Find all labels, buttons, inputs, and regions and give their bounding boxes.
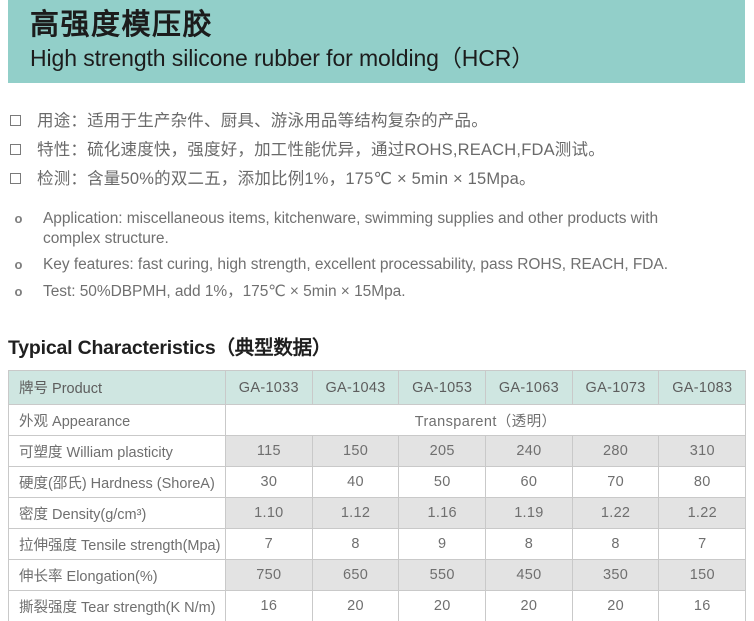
row-label-appearance: 外观 Appearance [9,405,226,436]
cell-value: 16 [226,591,313,621]
column-header-ga-1033: GA-1033 [226,371,313,405]
row-label-tear-strength: 撕裂强度 Tear strength(K N/m) [9,591,226,621]
row-label-hardness: 硬度(邵氏) Hardness (ShoreA) [9,467,226,498]
chinese-bullet-text: 检测：含量50%的双二五，添加比例1%，175℃ × 5min × 15Mpa。 [37,168,536,190]
cell-value: 750 [226,560,313,591]
row-label-elongation: 伸长率 Elongation(%) [9,560,226,591]
row-label-tensile-strength: 拉伸强度 Tensile strength(Mpa) [9,529,226,560]
cell-value: 20 [486,591,573,621]
table-row: 外观 Appearance Transparent（透明） [9,405,746,436]
hollow-square-bullet-icon [10,144,21,155]
english-bullet-text: Test: 50%DBPMH, add 1%，175℃ × 5min × 15M… [43,282,405,302]
banner-title-chinese: 高强度模压胶 [30,7,745,43]
title-banner: 高强度模压胶 High strength silicone rubber for… [8,0,745,83]
row-label-william-plasticity: 可塑度 William plasticity [9,436,226,467]
cell-value: 70 [572,467,659,498]
cell-value: 40 [312,467,399,498]
list-item: o Key features: fast curing, high streng… [8,255,748,275]
cell-value: 280 [572,436,659,467]
circle-bullet-icon: o [12,256,25,274]
cell-value: 50 [399,467,486,498]
english-bullet-text: Key features: fast curing, high strength… [43,255,668,275]
column-header-ga-1073: GA-1073 [572,371,659,405]
cell-value: 1.16 [399,498,486,529]
column-header-ga-1053: GA-1053 [399,371,486,405]
cell-value: 450 [486,560,573,591]
circle-bullet-icon: o [12,210,25,228]
table-row: 可塑度 William plasticity 115 150 205 240 2… [9,436,746,467]
cell-value: 8 [572,529,659,560]
cell-value: 1.22 [572,498,659,529]
table-row: 密度 Density(g/cm³) 1.10 1.12 1.16 1.19 1.… [9,498,746,529]
table-header-row: 牌号 Product GA-1033 GA-1043 GA-1053 GA-10… [9,371,746,405]
cell-value: 240 [486,436,573,467]
row-value-appearance: Transparent（透明） [226,405,746,436]
banner-title-english: High strength silicone rubber for moldin… [30,43,745,74]
cell-value: 1.12 [312,498,399,529]
table-row: 拉伸强度 Tensile strength(Mpa) 7 8 9 8 8 7 [9,529,746,560]
table-row: 伸长率 Elongation(%) 750 650 550 450 350 15… [9,560,746,591]
list-item: o Application: miscellaneous items, kitc… [8,209,748,248]
cell-value: 150 [312,436,399,467]
chinese-bullet-text: 特性：硫化速度快，强度好，加工性能优异，通过ROHS,REACH,FDA测试。 [37,139,605,161]
cell-value: 1.22 [659,498,746,529]
cell-value: 60 [486,467,573,498]
hollow-square-bullet-icon [10,115,21,126]
cell-value: 310 [659,436,746,467]
list-item: 特性：硫化速度快，强度好，加工性能优异，通过ROHS,REACH,FDA测试。 [8,139,748,168]
column-header-ga-1063: GA-1063 [486,371,573,405]
list-item: 检测：含量50%的双二五，添加比例1%，175℃ × 5min × 15Mpa。 [8,168,748,197]
cell-value: 7 [659,529,746,560]
circle-bullet-icon: o [12,283,25,301]
column-header-ga-1083: GA-1083 [659,371,746,405]
english-bullet-text: Application: miscellaneous items, kitche… [43,209,703,248]
table-row: 硬度(邵氏) Hardness (ShoreA) 30 40 50 60 70 … [9,467,746,498]
cell-value: 1.19 [486,498,573,529]
column-header-product: 牌号 Product [9,371,226,405]
cell-value: 80 [659,467,746,498]
cell-value: 20 [399,591,486,621]
cell-value: 650 [312,560,399,591]
table-row: 撕裂强度 Tear strength(K N/m) 16 20 20 20 20… [9,591,746,621]
cell-value: 205 [399,436,486,467]
cell-value: 9 [399,529,486,560]
cell-value: 20 [572,591,659,621]
cell-value: 1.10 [226,498,313,529]
list-item: 用途：适用于生产杂件、厨具、游泳用品等结构复杂的产品。 [8,110,748,139]
chinese-bullet-list: 用途：适用于生产杂件、厨具、游泳用品等结构复杂的产品。 特性：硫化速度快，强度好… [8,110,748,197]
cell-value: 30 [226,467,313,498]
cell-value: 16 [659,591,746,621]
section-heading: Typical Characteristics（典型数据） [8,331,331,360]
typical-characteristics-table: 牌号 Product GA-1033 GA-1043 GA-1053 GA-10… [8,370,746,621]
list-item: o Test: 50%DBPMH, add 1%，175℃ × 5min × 1… [8,282,748,302]
cell-value: 20 [312,591,399,621]
cell-value: 115 [226,436,313,467]
english-bullet-list: o Application: miscellaneous items, kitc… [8,209,748,308]
cell-value: 350 [572,560,659,591]
cell-value: 150 [659,560,746,591]
hollow-square-bullet-icon [10,173,21,184]
cell-value: 8 [486,529,573,560]
cell-value: 8 [312,529,399,560]
chinese-bullet-text: 用途：适用于生产杂件、厨具、游泳用品等结构复杂的产品。 [37,110,488,132]
product-datasheet-page: 高强度模压胶 High strength silicone rubber for… [0,0,754,621]
cell-value: 7 [226,529,313,560]
cell-value: 550 [399,560,486,591]
column-header-ga-1043: GA-1043 [312,371,399,405]
row-label-density: 密度 Density(g/cm³) [9,498,226,529]
